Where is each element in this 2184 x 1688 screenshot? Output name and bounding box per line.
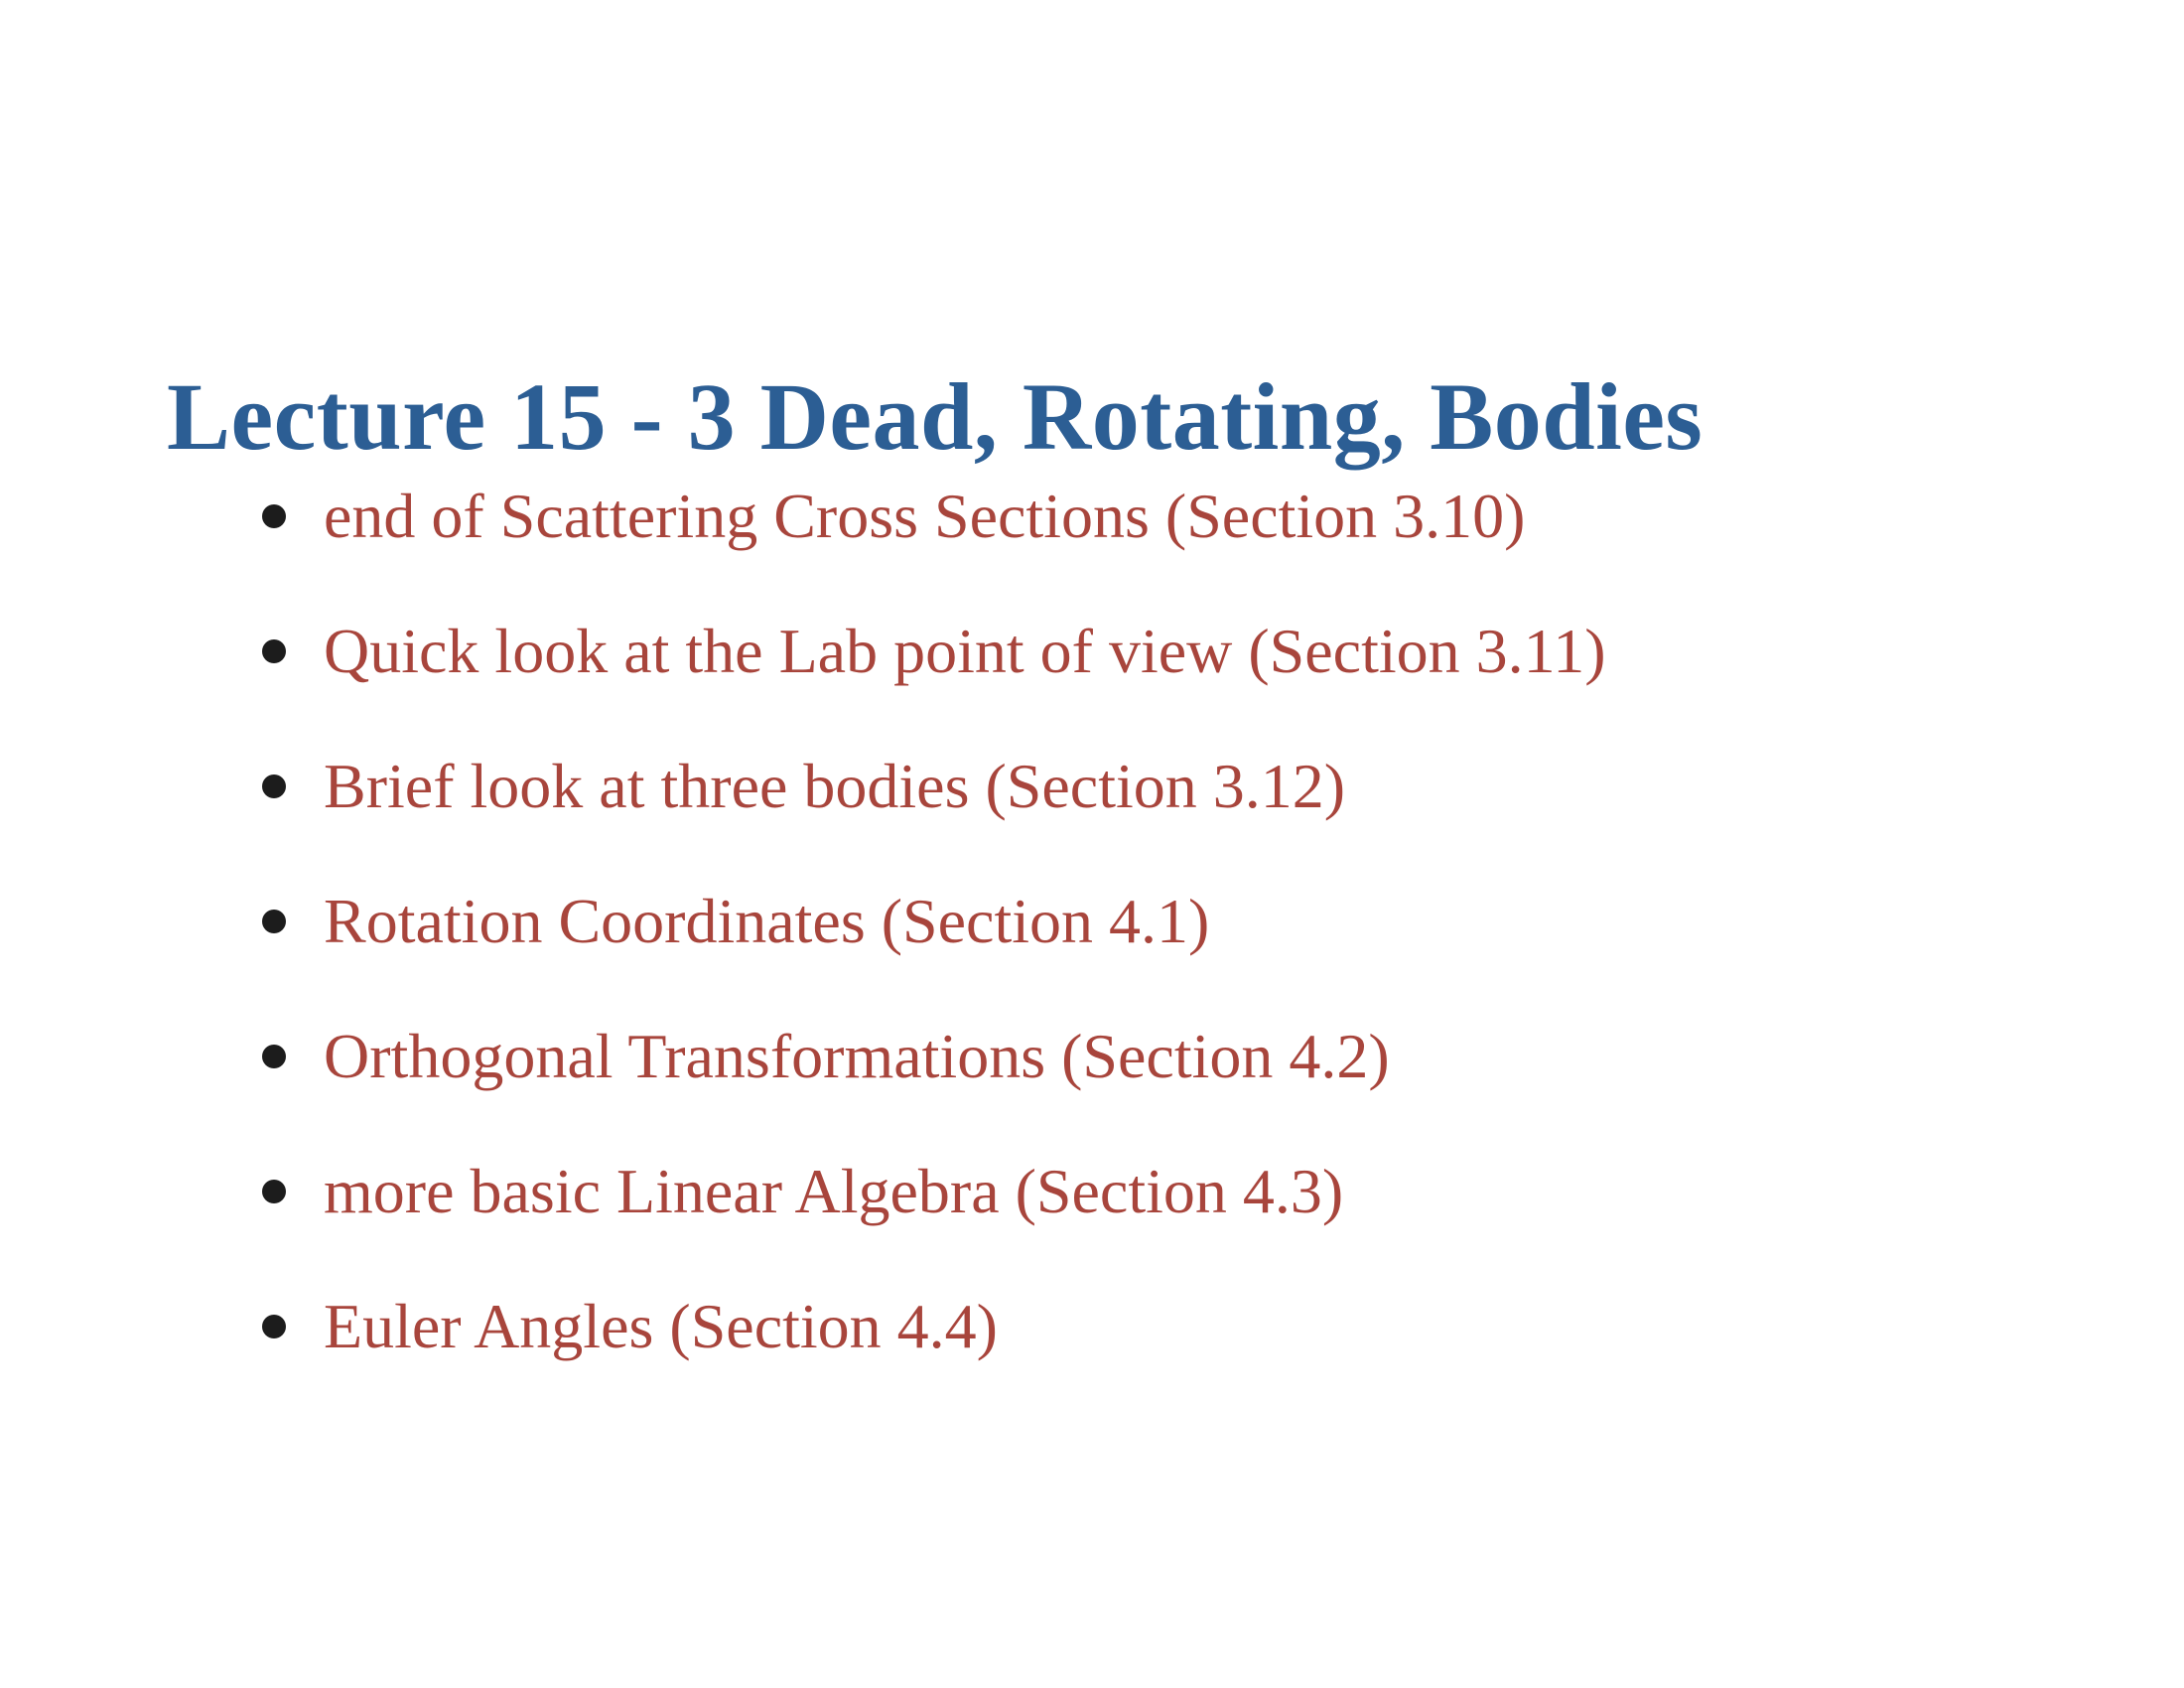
list-item-label: Rotation Coordinates (Section 4.1) [324,890,1209,953]
bullet-dot-icon [262,504,286,528]
list-item-label: end of Scattering Cross Sections (Sectio… [324,485,1525,548]
list-item: more basic Linear Algebra (Section 4.3) [256,1124,2142,1259]
bullet-dot-icon [262,1045,286,1068]
list-item: Euler Angles (Section 4.4) [256,1259,2142,1394]
agenda-bullet-list: end of Scattering Cross Sections (Sectio… [256,449,2142,1394]
list-item-label: Euler Angles (Section 4.4) [324,1295,998,1358]
list-item: Orthogonal Transformations (Section 4.2) [256,989,2142,1124]
list-item: end of Scattering Cross Sections (Sectio… [256,449,2142,584]
list-item: Brief look at three bodies (Section 3.12… [256,719,2142,854]
list-item-label: Brief look at three bodies (Section 3.12… [324,755,1345,818]
list-item-label: more basic Linear Algebra (Section 4.3) [324,1160,1343,1223]
bullet-dot-icon [262,774,286,798]
bullet-dot-icon [262,910,286,933]
bullet-dot-icon [262,639,286,663]
list-item-label: Quick look at the Lab point of view (Sec… [324,620,1606,683]
lecture-slide: Lecture 15 - 3 Dead, Rotating, Bodies en… [0,0,2184,1688]
list-item: Quick look at the Lab point of view (Sec… [256,584,2142,719]
bullet-dot-icon [262,1315,286,1338]
bullet-dot-icon [262,1180,286,1203]
list-item: Rotation Coordinates (Section 4.1) [256,854,2142,989]
list-item-label: Orthogonal Transformations (Section 4.2) [324,1025,1390,1088]
